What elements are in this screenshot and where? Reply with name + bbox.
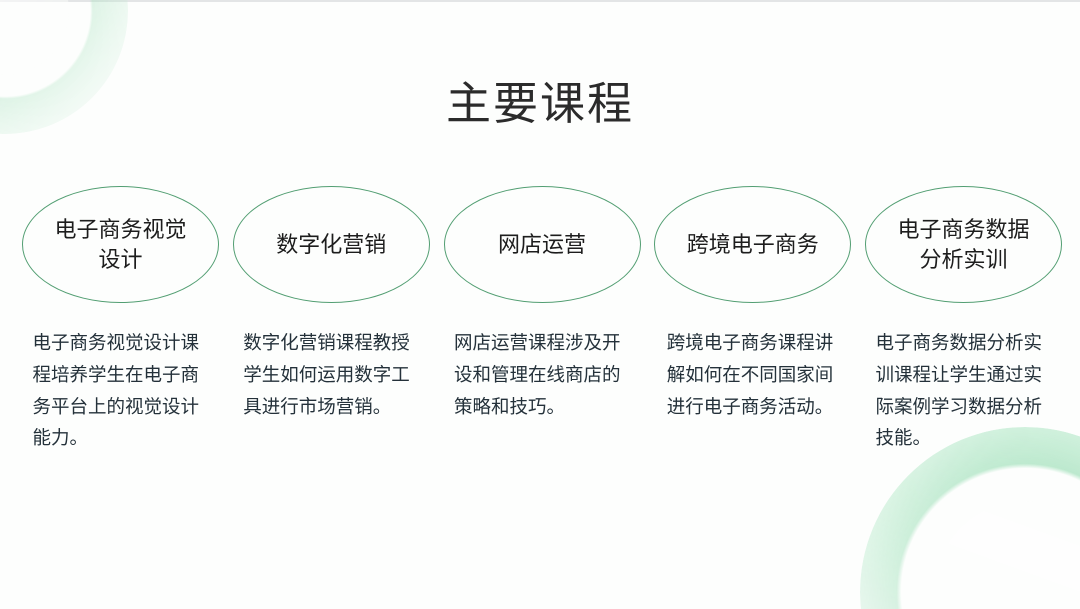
course-item: 跨境电子商务 跨境电子商务课程讲解如何在不同国家间进行电子商务活动。 xyxy=(654,186,851,441)
course-pill-label: 跨境电子商务 xyxy=(677,230,829,259)
course-description: 电子商务视觉设计课程培养学生在电子商务平台上的视觉设计能力。 xyxy=(33,327,209,454)
course-item: 数字化营销 数字化营销课程教授学生如何运用数字工具进行市场营销。 xyxy=(233,186,430,441)
course-description: 跨境电子商务课程讲解如何在不同国家间进行电子商务活动。 xyxy=(667,327,839,422)
course-pill-label: 数字化营销 xyxy=(255,230,407,259)
course-pill-digital-marketing[interactable]: 数字化营销 xyxy=(233,186,430,303)
course-description: 数字化营销课程教授学生如何运用数字工具进行市场营销。 xyxy=(243,327,419,422)
course-pill-electronic-commerce-visual-design[interactable]: 电子商务视觉设计 xyxy=(22,186,219,303)
course-list: 电子商务视觉设计 电子商务视觉设计课程培养学生在电子商务平台上的视觉设计能力。 … xyxy=(22,186,1062,473)
course-pill-ecommerce-data-analysis-training[interactable]: 电子商务数据分析实训 xyxy=(865,186,1062,303)
course-item: 网店运营 网店运营课程涉及开设和管理在线商店的策略和技巧。 xyxy=(444,186,641,441)
course-description: 网店运营课程涉及开设和管理在线商店的策略和技巧。 xyxy=(454,327,630,422)
course-item: 电子商务视觉设计 电子商务视觉设计课程培养学生在电子商务平台上的视觉设计能力。 xyxy=(22,186,219,473)
top-edge-rule xyxy=(0,0,1080,2)
course-pill-cross-border-ecommerce[interactable]: 跨境电子商务 xyxy=(654,186,851,303)
course-pill-online-store-operation[interactable]: 网店运营 xyxy=(444,186,641,303)
course-pill-label: 网店运营 xyxy=(466,230,618,259)
page-title: 主要课程 xyxy=(0,76,1080,132)
course-pill-label: 电子商务视觉设计 xyxy=(45,215,197,274)
course-item: 电子商务数据分析实训 电子商务数据分析实训课程让学生通过实际案例学习数据分析技能… xyxy=(865,186,1062,473)
course-description: 电子商务数据分析实训课程让学生通过实际案例学习数据分析技能。 xyxy=(876,327,1052,454)
slide-canvas: 主要课程 电子商务视觉设计 电子商务视觉设计课程培养学生在电子商务平台上的视觉设… xyxy=(0,0,1080,609)
course-pill-label: 电子商务数据分析实训 xyxy=(888,215,1040,274)
